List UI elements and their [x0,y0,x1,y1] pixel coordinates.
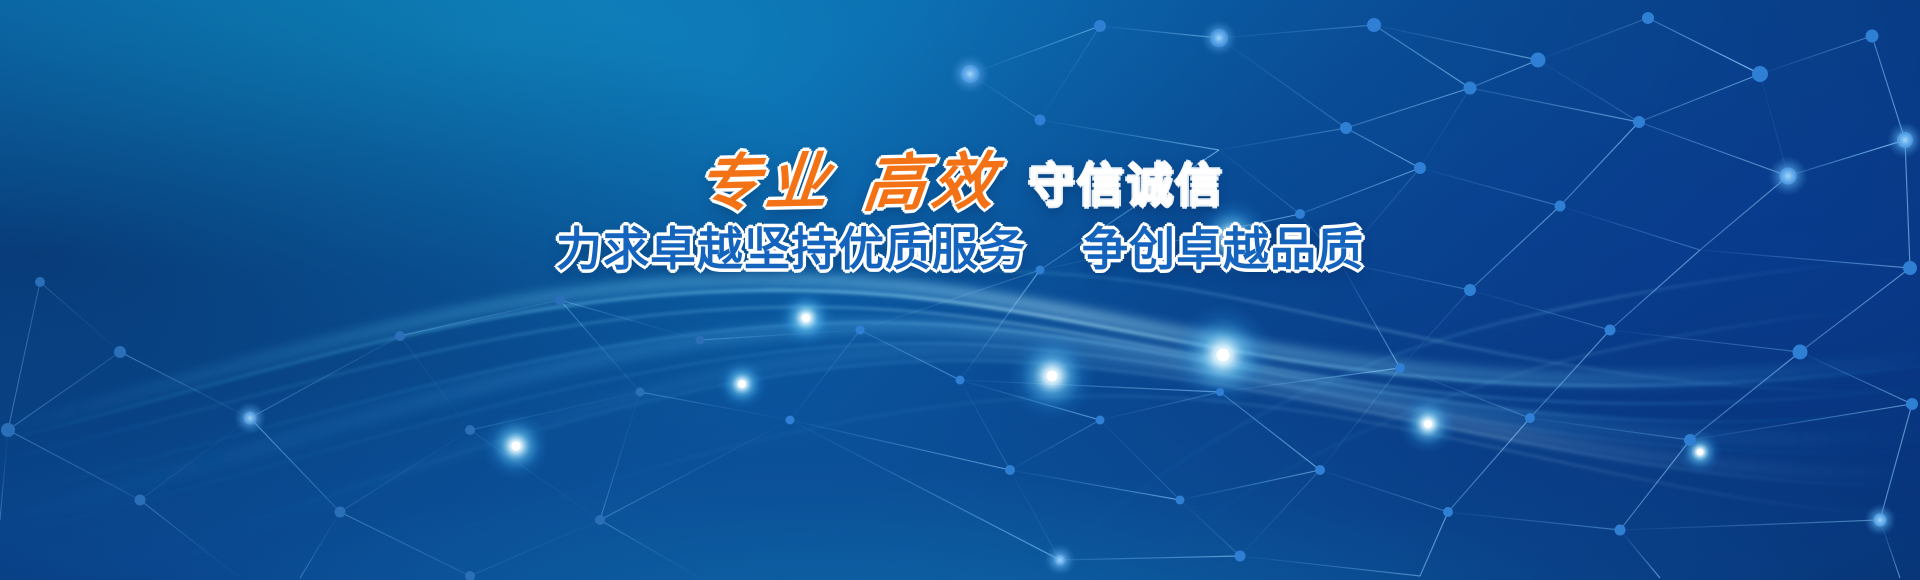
background-vignette [0,0,1920,580]
hero-banner: 专业 高效 守信诚信 力求卓越坚持优质服务 争创卓越品质 [0,0,1920,580]
